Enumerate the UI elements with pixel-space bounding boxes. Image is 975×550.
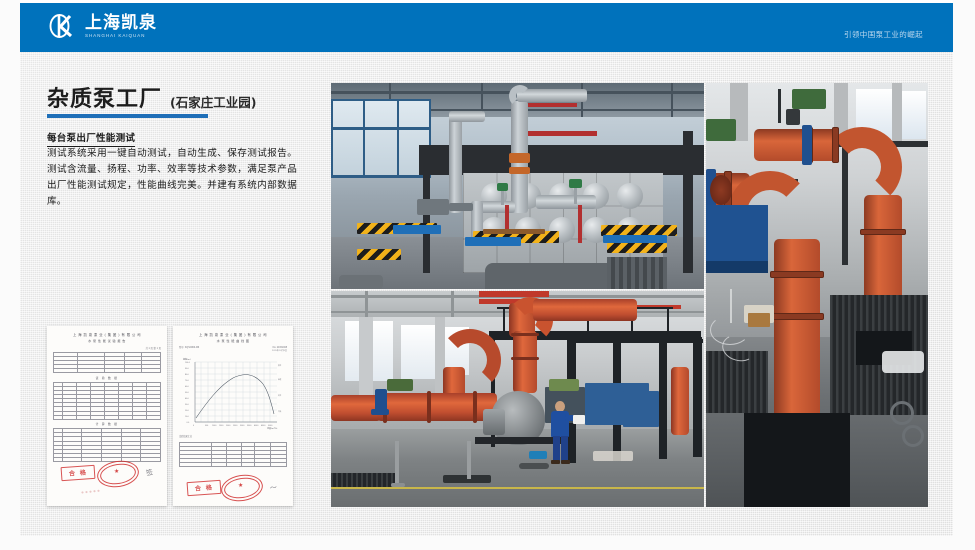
- svg-text:汽蚀: 汽蚀: [278, 410, 282, 413]
- section-body-text: 测试系统采用一键自动测试，自动生成、保存测试报告。测试含流量、扬程、功率、效率等…: [47, 146, 297, 210]
- header-tagline: 引领中国泵工业的崛起: [844, 29, 923, 40]
- title-underline-rule: [47, 114, 208, 118]
- photo-test-hall-steel-tanks[interactable]: [331, 83, 704, 289]
- doc2-model: 型号: KQSN300-M6: [179, 347, 199, 350]
- doc1-doc-line: 水 泵 性 能 试 验 报 告: [53, 339, 161, 344]
- doc1-qualified-stamp: 合 格: [61, 465, 96, 481]
- doc2-summary-table: [179, 442, 287, 468]
- doc2-seal-star-icon: ★: [238, 483, 244, 490]
- svg-text:0.0: 0.0: [187, 422, 190, 424]
- kaiquan-k-logo-icon: [48, 11, 78, 41]
- page-title-row: 杂质泵工厂 (石家庄工业园): [47, 88, 256, 112]
- doc1-seal-star-icon: ★: [114, 469, 120, 476]
- slide-right-margin: [953, 0, 975, 550]
- doc1-data-table-1: [53, 382, 161, 420]
- brand-name-en: SHANGHAI KAIQUAN: [85, 33, 157, 39]
- svg-text:3500: 3500: [247, 425, 251, 427]
- svg-text:50.0: 50.0: [185, 392, 189, 394]
- doc1-section-1: 试 验 数 据: [53, 376, 161, 381]
- doc2-note: 试验结果汇总: [179, 436, 287, 440]
- svg-text:1500: 1500: [219, 425, 223, 427]
- svg-text:扬程: 扬程: [278, 378, 282, 381]
- doc2-company-line: 上 海 凯 泉 泵 业 ( 集 团 ) 有 限 公 司: [179, 333, 287, 338]
- svg-text:4500: 4500: [261, 425, 265, 427]
- photo-orange-u-bend-pipes[interactable]: [706, 83, 928, 507]
- doc1-section-2: 计 算 数 据: [53, 422, 161, 427]
- svg-text:0: 0: [193, 425, 194, 427]
- svg-text:90.0: 90.0: [185, 368, 189, 370]
- photo-pump-test-rig-worker[interactable]: [331, 291, 704, 507]
- svg-text:2000: 2000: [226, 425, 230, 427]
- photo-collage: [331, 83, 928, 507]
- doc1-header-table: [53, 352, 161, 373]
- slide-canvas: 上海凯泉 SHANGHAI KAIQUAN 引领中国泵工业的崛起 杂质泵工厂 (…: [0, 0, 975, 550]
- svg-text:5000: 5000: [268, 425, 272, 427]
- svg-text:100.0: 100.0: [185, 362, 190, 364]
- svg-text:80.0: 80.0: [185, 374, 189, 376]
- svg-text:功率: 功率: [278, 394, 282, 397]
- doc1-data-table-2: [53, 428, 161, 462]
- slide-bottom-margin: [0, 536, 975, 550]
- doc2-date: 2015年10月8日: [272, 350, 287, 353]
- doc1-meta: 共 1 页 第 1 页: [53, 347, 161, 350]
- svg-text:2500: 2500: [233, 425, 237, 427]
- page-title: 杂质泵工厂: [47, 88, 162, 112]
- svg-text:500: 500: [205, 425, 208, 427]
- doc2-performance-curve-chart: 100.0 90.0 80.0 70.0 60.0 50.0 40.0 30.0…: [179, 356, 287, 434]
- svg-text:扬程(m): 扬程(m): [183, 357, 191, 361]
- svg-text:20.0: 20.0: [185, 410, 189, 412]
- svg-text:1000: 1000: [212, 425, 216, 427]
- brand-name-cn: 上海凯泉: [85, 14, 157, 32]
- document-thumbnail-test-report[interactable]: 上 海 凯 泉 泵 业 ( 集 团 ) 有 限 公 司 水 泵 性 能 试 验 …: [47, 326, 167, 506]
- svg-text:效率: 效率: [278, 364, 282, 367]
- doc2-qualified-stamp: 合 格: [187, 480, 222, 496]
- header-bar: 上海凯泉 SHANGHAI KAIQUAN 引领中国泵工业的崛起: [20, 3, 953, 52]
- page-title-location: (石家庄工业园): [170, 95, 256, 112]
- svg-text:40.0: 40.0: [185, 398, 189, 400]
- svg-text:3000: 3000: [240, 425, 244, 427]
- svg-text:4000: 4000: [254, 425, 258, 427]
- document-thumbnail-curve-report[interactable]: 上 海 凯 泉 泵 业 ( 集 团 ) 有 限 公 司 水 泵 性 能 曲 线 …: [173, 326, 293, 506]
- doc2-doc-line: 水 泵 性 能 曲 线 图: [179, 339, 287, 344]
- slide-left-margin: [0, 0, 20, 550]
- svg-text:30.0: 30.0: [185, 404, 189, 406]
- svg-text:70.0: 70.0: [185, 380, 189, 382]
- svg-text:60.0: 60.0: [185, 386, 189, 388]
- doc1-company-line: 上 海 凯 泉 泵 业 ( 集 团 ) 有 限 公 司: [53, 333, 161, 338]
- svg-text:10.0: 10.0: [185, 416, 189, 418]
- section-subheading: 每台泵出厂性能测试: [47, 130, 135, 147]
- brand-logo[interactable]: 上海凯泉 SHANGHAI KAIQUAN: [48, 11, 157, 41]
